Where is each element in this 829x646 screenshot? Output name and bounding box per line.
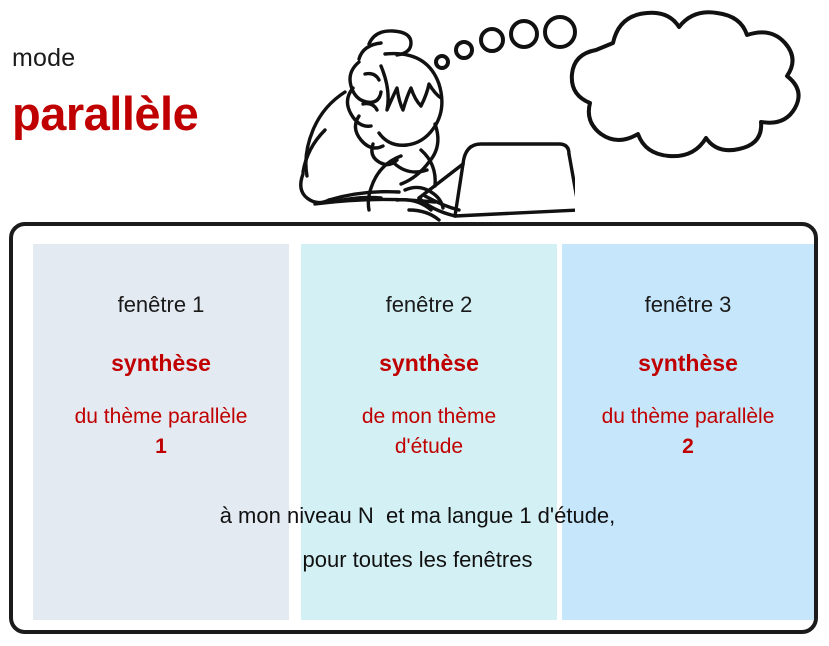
page-title: parallèle [12,86,198,141]
panel-3-detail: du thème parallèle 2 [562,402,814,462]
panel-1-detail-line-2: 1 [33,432,289,462]
panel-fenetre-1[interactable]: fenêtre 1 synthèse du thème parallèle 1 [33,244,289,620]
panel-2-detail-line-1: de mon thème [362,405,496,428]
panel-3-synthese-label: synthèse [562,350,814,377]
panel-2-window-label: fenêtre 2 [301,292,557,318]
panel-1-synthese-label: synthèse [33,350,289,377]
panel-3-detail-line-2: 2 [562,432,814,462]
panel-fenetre-2[interactable]: fenêtre 2 synthèse de mon thème d'étude [301,244,557,620]
thought-bubble-icon [430,2,829,172]
windows-frame: fenêtre 1 synthèse du thème parallèle 1 … [9,222,818,634]
mode-label: mode [12,44,75,73]
panel-3-detail-line-1: du thème parallèle [602,405,775,428]
panels-container: fenêtre 1 synthèse du thème parallèle 1 … [13,226,822,638]
panel-1-detail: du thème parallèle 1 [33,402,289,462]
panel-2-detail: de mon thème d'étude [301,402,557,462]
thought-bubble: j'apprends mieux par comparaison [430,2,829,172]
panel-fenetre-3[interactable]: fenêtre 3 synthèse du thème parallèle 2 [562,244,814,620]
panel-3-window-label: fenêtre 3 [562,292,814,318]
panel-1-window-label: fenêtre 1 [33,292,289,318]
panel-2-synthese-label: synthèse [301,350,557,377]
panel-2-detail-line-2: d'étude [301,432,557,462]
panel-1-detail-line-1: du thème parallèle [75,405,248,428]
header-section: mode parallèle [0,0,829,218]
